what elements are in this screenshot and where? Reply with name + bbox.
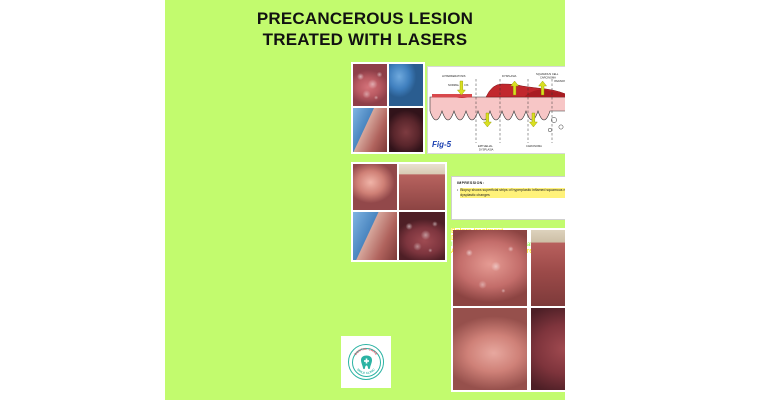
impression-text: Biopsy shows superficial strips of hyper… — [460, 188, 565, 198]
poster-canvas: PRECANCEROUS LESION TREATED WITH LASERS — [165, 0, 565, 400]
diagram-note-normal: NORMAL — [448, 83, 460, 87]
impression-body: • Biopsy shows superficial strips of hyp… — [457, 188, 565, 198]
biopsy-impression-box: IMPRESSION: • Biopsy shows superficial s… — [451, 176, 565, 220]
photo-tile — [353, 164, 397, 210]
diagram-label-hyperkeratosis: HYPERKERATOSIS — [442, 74, 466, 78]
diagram-fig-label: Fig-5 — [432, 140, 452, 149]
intra-operative-photo-grid — [351, 162, 447, 262]
treatment-timeline-grid: Before treatment Day 1 Immediately after… — [451, 228, 565, 392]
photo-tile — [353, 212, 397, 260]
diagram-label-carcinoma: CARCINOMA — [526, 144, 542, 148]
diagram-label-scc: SQUAMOUS CELL — [536, 72, 559, 76]
diagram-label-epithelial: EPITHELIAL — [478, 144, 493, 148]
hyperkeratosis-band — [432, 94, 472, 97]
impression-heading: IMPRESSION: — [457, 181, 565, 185]
title-line-2: TREATED WITH LASERS — [165, 29, 565, 50]
epithelium-layer — [430, 97, 565, 120]
diagram-label-dysplasia-2: DYSPLASIA — [479, 148, 494, 152]
histology-progression-diagram: HYPERKERATOSIS DYSPLASIA SQUAMOUS CELL C… — [427, 66, 565, 154]
photo-tile — [453, 230, 527, 306]
pre-operative-photo-grid — [351, 62, 425, 154]
diagram-label-scc2: CARCINOMA — [540, 76, 556, 80]
photo-tile — [531, 308, 565, 390]
screenshot-root: PRECANCEROUS LESION TREATED WITH LASERS — [0, 0, 770, 400]
photo-tile — [389, 108, 423, 152]
diagram-note-invasion: INVASION — [554, 79, 565, 83]
photo-tile — [353, 108, 387, 152]
photo-tile — [399, 212, 445, 260]
photo-tile — [531, 230, 565, 306]
logo-ring: DENTAL CARE SMILE CLINIC — [348, 344, 384, 380]
page-title: PRECANCEROUS LESION TREATED WITH LASERS — [165, 8, 565, 50]
tooth-icon — [360, 355, 373, 370]
title-line-1: PRECANCEROUS LESION — [257, 9, 473, 28]
diagram-note-cis: CIS — [464, 83, 469, 87]
diagram-svg: HYPERKERATOSIS DYSPLASIA SQUAMOUS CELL C… — [428, 67, 565, 153]
photo-tile — [399, 164, 445, 210]
photo-tile — [453, 308, 527, 390]
photo-tile — [353, 64, 387, 106]
clinic-logo: DENTAL CARE SMILE CLINIC — [341, 336, 391, 388]
impression-bullet: • — [457, 188, 458, 198]
diagram-label-dysplasia: DYSPLASIA — [502, 74, 517, 78]
photo-tile — [389, 64, 423, 106]
